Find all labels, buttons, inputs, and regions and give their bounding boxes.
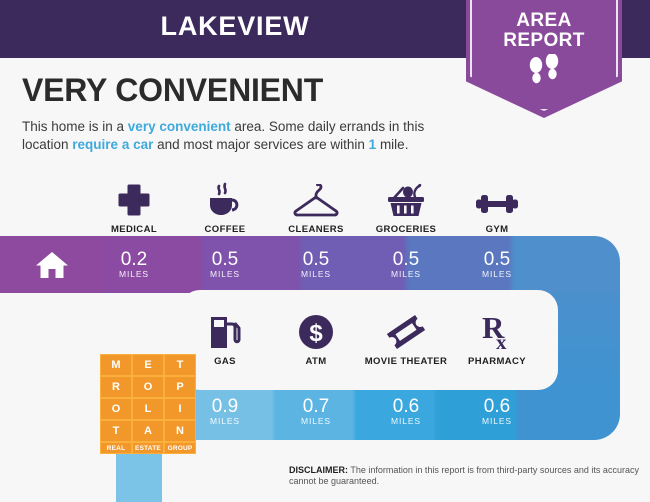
gas-pump-icon — [180, 310, 270, 352]
logo-letter: T — [100, 420, 132, 442]
summary-text-4: mile. — [376, 137, 408, 152]
logo-letter: O — [100, 398, 132, 420]
logo-letter: R — [100, 376, 132, 398]
distance-value: 0.5 — [271, 249, 361, 270]
logo-subtitle-word: GROUP — [164, 442, 196, 454]
service-label: GYM — [452, 224, 542, 235]
distance-cleaners: 0.5 MILES — [271, 249, 361, 279]
summary-highlight-2: require a car — [72, 137, 153, 152]
distance-value: 0.6 — [361, 396, 451, 417]
logo-letter: M — [100, 354, 132, 376]
svg-text:x: x — [496, 330, 507, 352]
logo-subtitle: REAL ESTATE GROUP — [100, 442, 196, 454]
distance-unit: MILES — [452, 269, 542, 279]
distance-atm: 0.7 MILES — [271, 396, 361, 426]
distance-value: 0.5 — [361, 249, 451, 270]
summary-text-1: This home is in a — [22, 119, 128, 134]
service-movie-theater: MOVIE THEATER — [361, 310, 451, 367]
logo-letter: I — [164, 398, 196, 420]
distance-value: 0.5 — [452, 249, 542, 270]
clothes-hanger-icon — [271, 178, 361, 220]
rx-icon: R x — [452, 310, 542, 352]
distance-gym: 0.5 MILES — [452, 249, 542, 279]
page-title: LAKEVIEW — [0, 11, 470, 42]
summary-highlight-1: very convenient — [128, 119, 231, 134]
distance-unit: MILES — [271, 416, 361, 426]
distance-movie-theater: 0.6 MILES — [361, 396, 451, 426]
summary-text-3: and most major services are within — [153, 137, 368, 152]
distance-unit: MILES — [89, 269, 179, 279]
service-atm: $ ATM — [271, 310, 361, 367]
logo-letter: A — [132, 420, 164, 442]
disclaimer: DISCLAIMER: The information in this repo… — [289, 465, 641, 487]
distance-pharmacy: 0.6 MILES — [452, 396, 542, 426]
service-medical: MEDICAL — [89, 178, 179, 235]
service-groceries: GROCERIES — [361, 178, 451, 235]
distance-unit: MILES — [271, 269, 361, 279]
area-report-badge: AREA REPORT — [466, 0, 622, 118]
service-label: PHARMACY — [452, 356, 542, 367]
distance-unit: MILES — [452, 416, 542, 426]
logo-letter: P — [164, 376, 196, 398]
distance-unit: MILES — [361, 269, 451, 279]
service-label: ATM — [271, 356, 361, 367]
distance-unit: MILES — [180, 269, 270, 279]
distance-value: 0.5 — [180, 249, 270, 270]
logo-letter: E — [132, 354, 164, 376]
badge-line-1: AREA — [466, 11, 622, 31]
dollar-coin-icon: $ — [271, 310, 361, 352]
logo-letter: N — [164, 420, 196, 442]
svg-text:$: $ — [309, 320, 323, 347]
distance-value: 0.6 — [452, 396, 542, 417]
grocery-basket-icon — [361, 178, 451, 220]
coffee-cup-icon — [180, 178, 270, 220]
service-label: GROCERIES — [361, 224, 451, 235]
movie-ticket-icon — [361, 310, 451, 352]
distance-value: 0.7 — [271, 396, 361, 417]
disclaimer-label: DISCLAIMER: — [289, 465, 348, 475]
medical-cross-icon — [89, 178, 179, 220]
logo-letter: T — [164, 354, 196, 376]
service-label: MEDICAL — [89, 224, 179, 235]
headline: VERY CONVENIENT — [22, 72, 323, 109]
footprints-icon — [466, 54, 622, 93]
logo-subtitle-word: ESTATE — [132, 442, 164, 454]
logo-blue-tab — [116, 450, 162, 502]
service-gym: GYM — [452, 178, 542, 235]
home-icon — [35, 250, 69, 280]
distance-coffee: 0.5 MILES — [180, 249, 270, 279]
logo-letter: O — [132, 376, 164, 398]
infographic-root: LAKEVIEW AREA REPORT VERY CONVENIENT Thi… — [0, 0, 650, 502]
logo-letter: L — [132, 398, 164, 420]
badge-line-2: REPORT — [466, 31, 622, 51]
distance-groceries: 0.5 MILES — [361, 249, 451, 279]
logo-letter-grid: M E T R O P O L I T A N — [100, 354, 196, 442]
distance-unit: MILES — [361, 416, 451, 426]
distance-medical: 0.2 MILES — [89, 249, 179, 279]
dumbbell-icon — [452, 178, 542, 220]
summary-text: This home is in a very convenient area. … — [22, 118, 462, 154]
service-pharmacy: R x PHARMACY — [452, 310, 542, 367]
service-coffee: COFFEE — [180, 178, 270, 235]
logo-subtitle-word: REAL — [100, 442, 132, 454]
metropolitan-logo: M E T R O P O L I T A N REAL ESTATE GROU… — [100, 354, 196, 454]
distance-value: 0.2 — [89, 249, 179, 270]
service-label: CLEANERS — [271, 224, 361, 235]
service-cleaners: CLEANERS — [271, 178, 361, 235]
service-label: MOVIE THEATER — [361, 356, 451, 367]
service-label: COFFEE — [180, 224, 270, 235]
